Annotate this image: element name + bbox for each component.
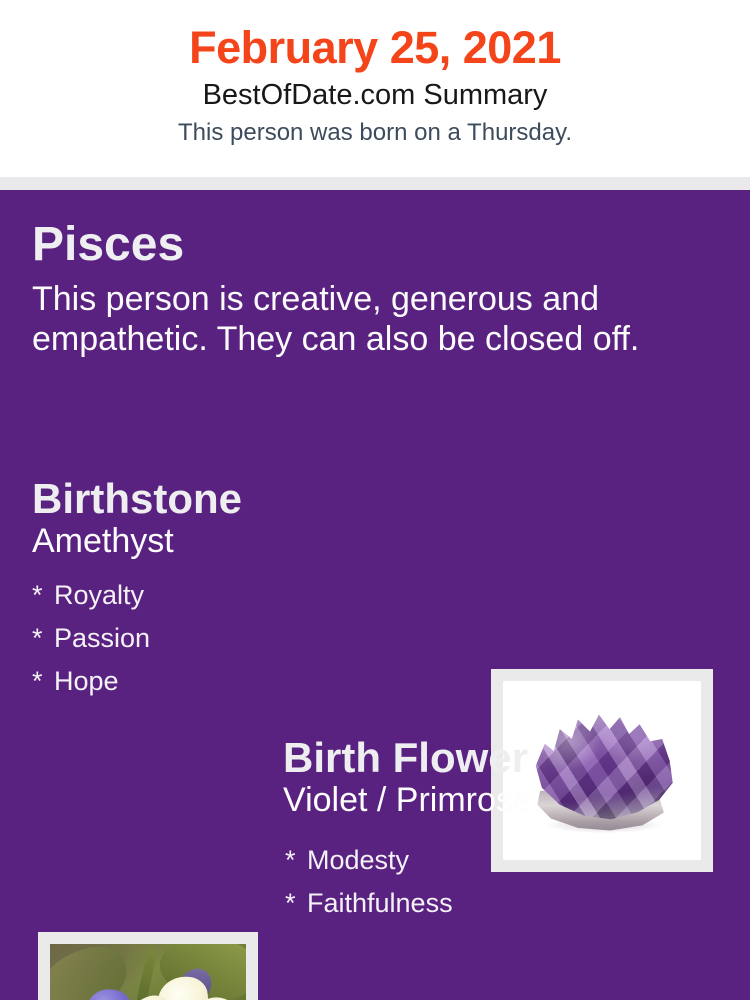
birthflower-image (50, 944, 246, 1000)
zodiac-section: Pisces This person is creative, generous… (32, 220, 712, 359)
page-header: February 25, 2021 BestOfDate.com Summary… (0, 0, 750, 177)
page-title-date: February 25, 2021 (0, 0, 750, 71)
birthflower-trait-list: *Modesty *Faithfulness (283, 819, 743, 917)
birthstone-trait-list: *Royalty *Passion *Hope (32, 560, 462, 695)
birthflower-section: Birth Flower Violet / Primrose *Modesty … (283, 737, 743, 917)
birthflower-trait-label: Faithfulness (307, 888, 453, 918)
birthstone-trait-label: Royalty (54, 580, 144, 610)
bullet-star-icon: * (32, 582, 54, 609)
birthstone-name: Amethyst (32, 521, 462, 560)
list-item: *Faithfulness (285, 874, 743, 917)
bullet-star-icon: * (285, 890, 307, 917)
primrose-petal (156, 975, 209, 1000)
site-name-subtitle: BestOfDate.com Summary (0, 71, 750, 112)
birthstone-title: Birthstone (32, 478, 462, 521)
birthflower-name: Violet / Primrose (283, 780, 743, 819)
primrose-flower (128, 979, 242, 1000)
birthstone-trait-label: Passion (54, 623, 150, 653)
list-item: *Passion (32, 609, 462, 652)
header-divider (0, 177, 750, 190)
list-item: *Royalty (32, 566, 462, 609)
bullet-star-icon: * (32, 668, 54, 695)
zodiac-description: This person is creative, generous and em… (32, 271, 704, 359)
birthflower-trait-label: Modesty (307, 845, 409, 875)
birthstone-trait-label: Hope (54, 666, 119, 696)
birth-weekday-note: This person was born on a Thursday. (0, 112, 750, 146)
summary-panel: Pisces This person is creative, generous… (0, 190, 750, 1000)
birthflower-title: Birth Flower (283, 737, 743, 780)
summary-page: February 25, 2021 BestOfDate.com Summary… (0, 0, 750, 1000)
bullet-star-icon: * (32, 625, 54, 652)
birthflower-image-frame (38, 932, 258, 1000)
birthstone-section: Birthstone Amethyst *Royalty *Passion *H… (32, 478, 462, 695)
bullet-star-icon: * (285, 847, 307, 874)
list-item: *Hope (32, 652, 462, 695)
list-item: *Modesty (285, 831, 743, 874)
zodiac-sign-title: Pisces (32, 220, 712, 271)
